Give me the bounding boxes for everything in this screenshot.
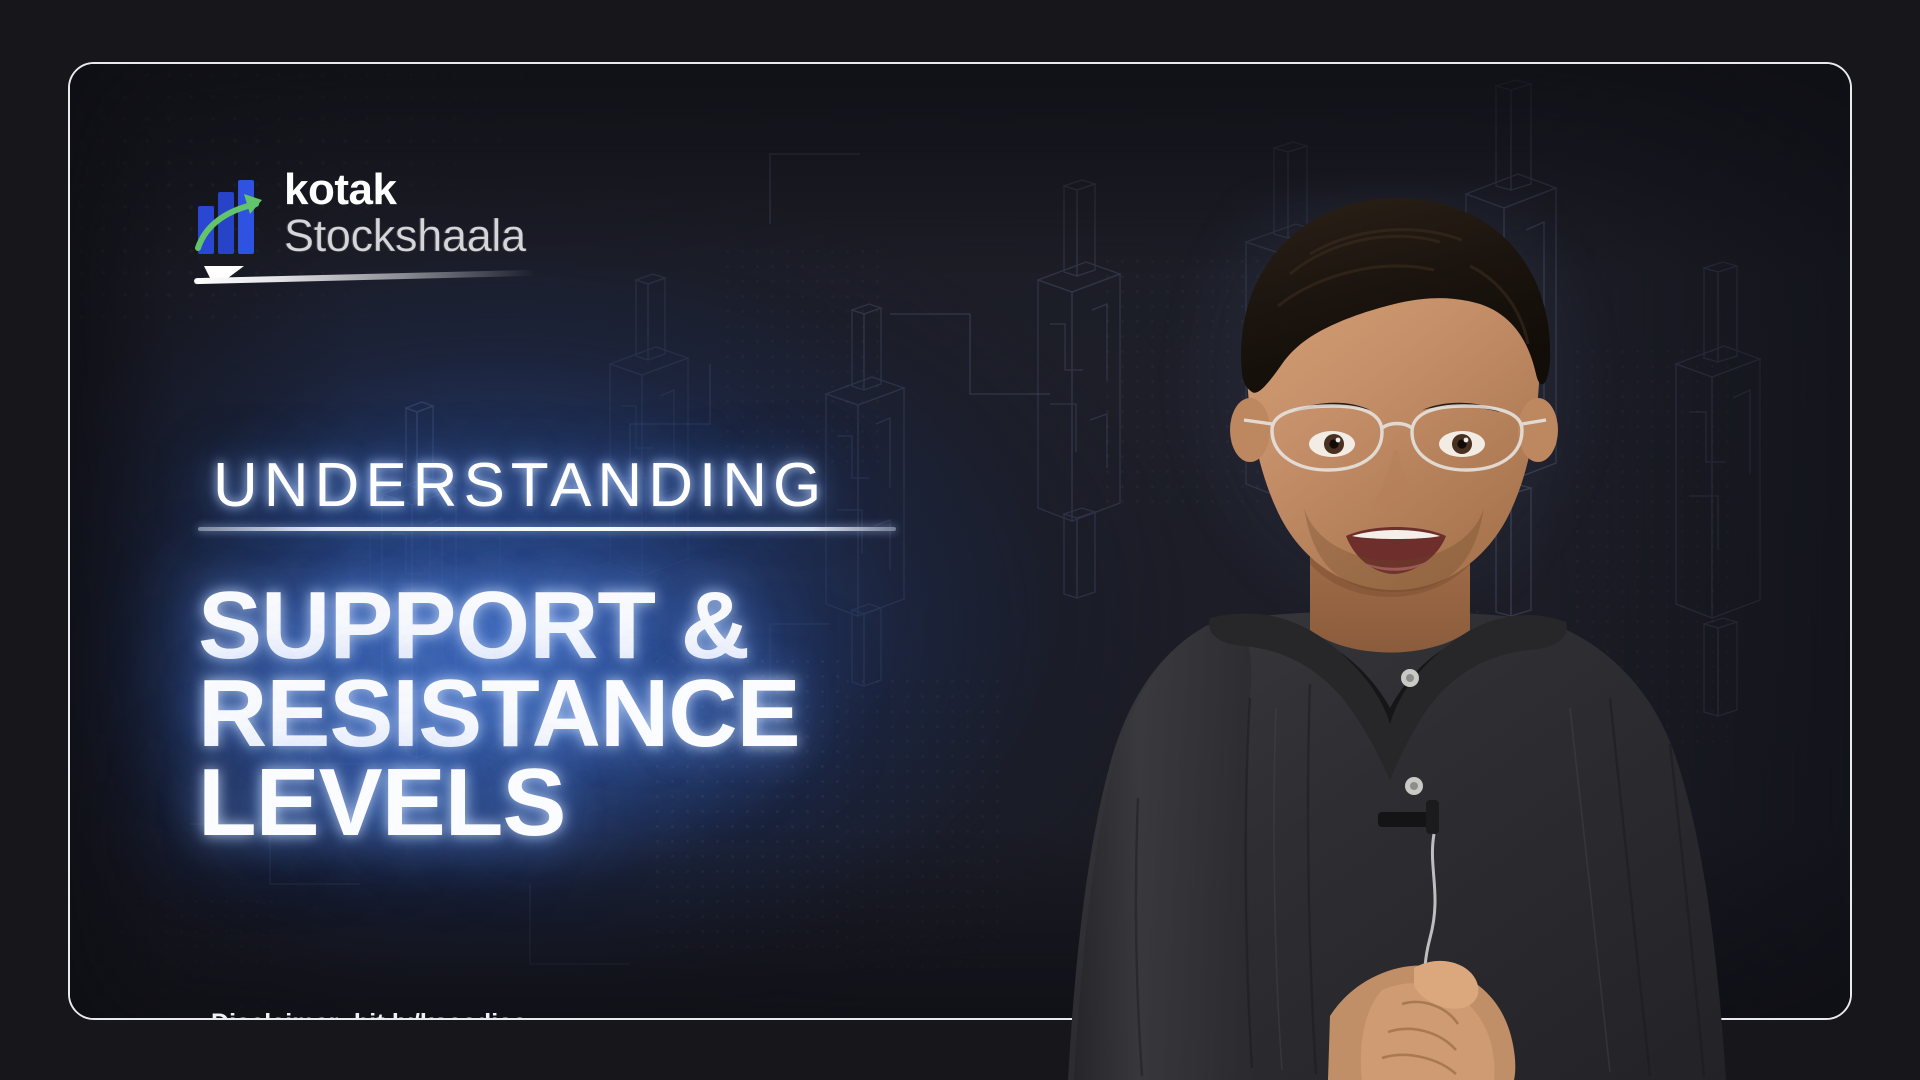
page-title-line-2: RESISTANCE [198,670,958,758]
presenter-head [1230,198,1558,592]
presenter-figure [1010,178,1770,1080]
page-title: SUPPORT & RESISTANCE LEVELS [198,582,958,847]
candlestick-pencil-arrow-icon [188,170,276,282]
page-title-line-3: LEVELS [198,759,958,847]
page-kicker: UNDERSTANDING [213,450,827,521]
brand-logo[interactable]: kotak Stockshaala [188,162,588,292]
logo-secondary-text: Stockshaala [284,212,526,259]
title-card: kotak Stockshaala UNDERSTANDING SUPPORT … [0,0,1920,1080]
kicker-divider [198,527,896,531]
logo-primary-text: kotak [284,168,396,212]
disclaimer-text[interactable]: Disclaimer: bit.ly/ksecdisc [211,1009,526,1020]
page-title-line-1: SUPPORT & [198,582,958,670]
